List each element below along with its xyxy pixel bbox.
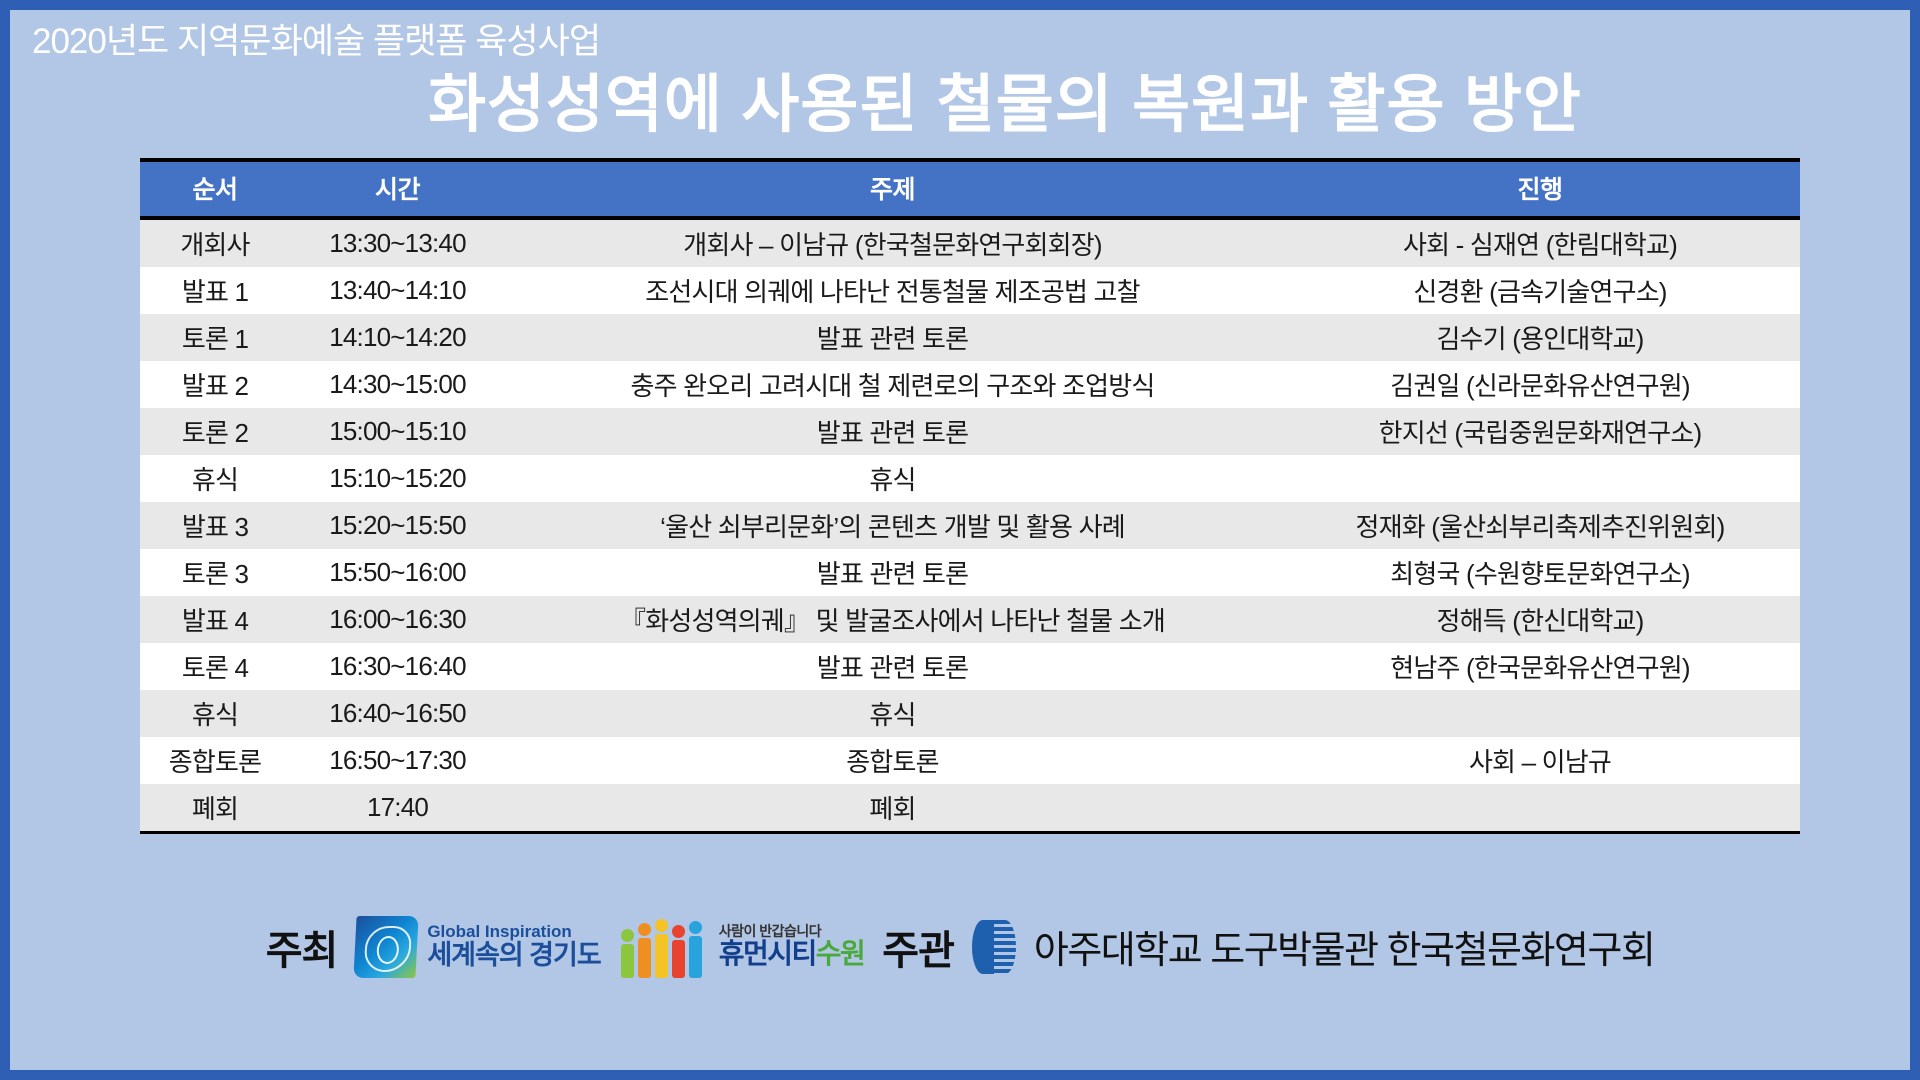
cell-topic: 발표 관련 토론 [505, 549, 1280, 596]
cell-time: 15:50~16:00 [290, 549, 505, 596]
table-row: 휴식16:40~16:50휴식 [140, 690, 1800, 737]
cell-host: 한지선 (국립중원문화재연구소) [1280, 408, 1800, 455]
table-row: 토론 215:00~15:10발표 관련 토론한지선 (국립중원문화재연구소) [140, 408, 1800, 455]
cell-topic: 충주 완오리 고려시대 철 제련로의 구조와 조업방식 [505, 361, 1280, 408]
cell-time: 14:10~14:20 [290, 314, 505, 361]
suwon-logo-name-green: 수원 [816, 938, 865, 969]
program-table-wrapper: 순서 시간 주제 진행 개회사13:30~13:40개회사 – 이남규 (한국철… [140, 158, 1800, 831]
cell-order: 휴식 [140, 690, 290, 737]
cell-topic: 폐회 [505, 784, 1280, 831]
cell-host: 김권일 (신라문화유산연구원) [1280, 361, 1800, 408]
organizer-label: 주관 [882, 918, 954, 976]
cell-order: 폐회 [140, 784, 290, 831]
cell-order: 토론 4 [140, 643, 290, 690]
cell-order: 발표 4 [140, 596, 290, 643]
cell-time: 16:40~16:50 [290, 690, 505, 737]
poster-root: 2020년도 지역문화예술 플랫폼 육성사업 화성성역에 사용된 철물의 복원과… [10, 10, 1910, 1070]
organizer-names: 아주대학교 도구박물관 한국철문화연구회 [1034, 919, 1654, 974]
cell-time: 15:10~15:20 [290, 455, 505, 502]
column-header-host: 진행 [1280, 160, 1800, 218]
suwon-logo-tagline: 사람이 반갑습니다 [719, 924, 865, 939]
cell-time: 16:50~17:30 [290, 737, 505, 784]
table-row: 종합토론16:50~17:30종합토론사회 – 이남규 [140, 737, 1800, 784]
cell-order: 발표 2 [140, 361, 290, 408]
cell-order: 휴식 [140, 455, 290, 502]
cell-host: 최형국 (수원향토문화연구소) [1280, 549, 1800, 596]
people-figures-icon [619, 916, 711, 978]
gyeonggi-logo-korean: 세계속의 경기도 [427, 941, 600, 971]
cell-topic: 조선시대 의궤에 나타난 전통철물 제조공법 고찰 [505, 267, 1280, 314]
cell-topic: 휴식 [505, 455, 1280, 502]
poster-footer: 주최 Global Inspiration 세계속의 경기도 [10, 834, 1910, 1070]
table-body: 개회사13:30~13:40개회사 – 이남규 (한국철문화연구회회장)사회 -… [140, 218, 1800, 831]
cell-host: 정해득 (한신대학교) [1280, 596, 1800, 643]
host-label: 주최 [266, 918, 338, 976]
cell-order: 토론 3 [140, 549, 290, 596]
cell-host: 사회 – 이남규 [1280, 737, 1800, 784]
cell-topic: 개회사 – 이남규 (한국철문화연구회회장) [505, 218, 1280, 267]
cell-host: 사회 - 심재연 (한림대학교) [1280, 218, 1800, 267]
cell-topic: 종합토론 [505, 737, 1280, 784]
ajou-university-emblem-icon [972, 918, 1016, 976]
table-row: 발표 315:20~15:50‘울산 쇠부리문화’의 콘텐츠 개발 및 활용 사… [140, 502, 1800, 549]
cell-host: 김수기 (용인대학교) [1280, 314, 1800, 361]
gyeonggi-logo-english: Global Inspiration [427, 923, 600, 942]
cell-time: 13:30~13:40 [290, 218, 505, 267]
gyeonggi-province-logo: Global Inspiration 세계속의 경기도 [355, 916, 600, 978]
suwon-logo-name-blue: 휴먼시티 [719, 938, 816, 969]
cell-topic: ‘울산 쇠부리문화’의 콘텐츠 개발 및 활용 사례 [505, 502, 1280, 549]
cell-order: 토론 2 [140, 408, 290, 455]
table-row: 토론 114:10~14:20발표 관련 토론김수기 (용인대학교) [140, 314, 1800, 361]
cell-time: 16:30~16:40 [290, 643, 505, 690]
suwon-city-logo: 사람이 반갑습니다 휴먼시티수원 [619, 916, 865, 978]
cell-order: 발표 3 [140, 502, 290, 549]
cell-time: 13:40~14:10 [290, 267, 505, 314]
cell-topic: 발표 관련 토론 [505, 643, 1280, 690]
gyeonggi-emblem-icon [354, 916, 419, 978]
page-title: 화성성역에 사용된 철물의 복원과 활용 방안 [10, 62, 1910, 144]
cell-host [1280, 784, 1800, 831]
table-row: 휴식15:10~15:20휴식 [140, 455, 1800, 502]
cell-topic: 휴식 [505, 690, 1280, 737]
program-subtitle: 2020년도 지역문화예술 플랫폼 육성사업 [10, 22, 1910, 62]
cell-time: 16:00~16:30 [290, 596, 505, 643]
table-row: 개회사13:30~13:40개회사 – 이남규 (한국철문화연구회회장)사회 -… [140, 218, 1800, 267]
table-row: 발표 214:30~15:00충주 완오리 고려시대 철 제련로의 구조와 조업… [140, 361, 1800, 408]
cell-time: 15:00~15:10 [290, 408, 505, 455]
table-row: 토론 416:30~16:40발표 관련 토론현남주 (한국문화유산연구원) [140, 643, 1800, 690]
table-row: 토론 315:50~16:00발표 관련 토론최형국 (수원향토문화연구소) [140, 549, 1800, 596]
cell-host [1280, 455, 1800, 502]
table-header: 순서 시간 주제 진행 [140, 160, 1800, 218]
cell-order: 개회사 [140, 218, 290, 267]
cell-host: 현남주 (한국문화유산연구원) [1280, 643, 1800, 690]
cell-topic: 발표 관련 토론 [505, 408, 1280, 455]
program-table: 순서 시간 주제 진행 개회사13:30~13:40개회사 – 이남규 (한국철… [140, 158, 1800, 831]
column-header-time: 시간 [290, 160, 505, 218]
cell-order: 종합토론 [140, 737, 290, 784]
cell-host: 신경환 (금속기술연구소) [1280, 267, 1800, 314]
table-row: 폐회17:40폐회 [140, 784, 1800, 831]
table-row: 발표 416:00~16:30『화성성역의궤』 및 발굴조사에서 나타난 철물 … [140, 596, 1800, 643]
cell-host: 정재화 (울산쇠부리축제추진위원회) [1280, 502, 1800, 549]
column-header-order: 순서 [140, 160, 290, 218]
table-row: 발표 113:40~14:10조선시대 의궤에 나타난 전통철물 제조공법 고찰… [140, 267, 1800, 314]
cell-topic: 발표 관련 토론 [505, 314, 1280, 361]
cell-topic: 『화성성역의궤』 및 발굴조사에서 나타난 철물 소개 [505, 596, 1280, 643]
cell-order: 토론 1 [140, 314, 290, 361]
cell-order: 발표 1 [140, 267, 290, 314]
cell-host [1280, 690, 1800, 737]
cell-time: 14:30~15:00 [290, 361, 505, 408]
poster-header: 2020년도 지역문화예술 플랫폼 육성사업 화성성역에 사용된 철물의 복원과… [10, 10, 1910, 144]
cell-time: 15:20~15:50 [290, 502, 505, 549]
column-header-topic: 주제 [505, 160, 1280, 218]
cell-time: 17:40 [290, 784, 505, 831]
